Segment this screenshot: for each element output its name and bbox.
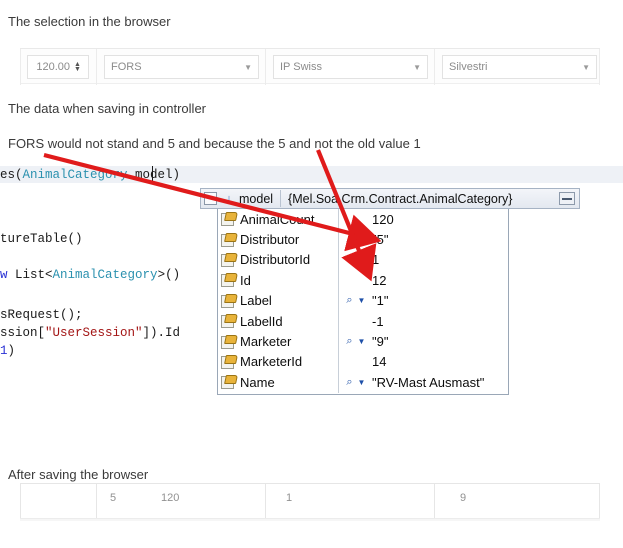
code-token: >() — [158, 268, 181, 282]
table-cell: 9 — [460, 492, 466, 504]
datatip-property-value-cell: ⌕▼1 — [338, 252, 508, 267]
amount-stepper[interactable]: 120.00 ▲ ▼ — [27, 55, 89, 79]
collapse-icon[interactable]: − — [204, 192, 217, 205]
code-line: tureTable() — [0, 232, 83, 246]
datatip-property-value: -1 — [367, 314, 384, 329]
magnifier-icon-placeholder: ⌕ — [343, 253, 356, 266]
datatip-property-value: 120 — [367, 212, 394, 227]
chevron-down-icon-placeholder: ▼ — [356, 357, 367, 366]
magnifier-icon-placeholder: ⌕ — [343, 213, 356, 226]
property-icon — [221, 233, 236, 247]
datatip-property-name-cell: DistributorId — [218, 252, 338, 267]
marketer-select[interactable]: Silvestri ▼ — [442, 55, 597, 79]
datatip-property-value-cell: ⌕▼"RV-Mast Ausmast" — [338, 375, 508, 390]
datatip-property-name-cell: MarketerId — [218, 354, 338, 369]
column-divider — [96, 49, 97, 85]
stepper-down-icon[interactable]: ▼ — [74, 67, 81, 72]
datatip-row[interactable]: DistributorId⌕▼1 — [218, 250, 508, 270]
datatip-property-name: LabelId — [240, 314, 283, 329]
datatip-property-name: Distributor — [240, 232, 299, 247]
code-line: es(AnimalCategory model) — [0, 168, 180, 182]
code-token: List< — [15, 268, 53, 282]
datatip-property-value: 1 — [367, 252, 379, 267]
property-icon — [221, 253, 236, 267]
datatip-row[interactable]: Name⌕▼"RV-Mast Ausmast" — [218, 372, 508, 392]
property-icon — [221, 314, 236, 328]
datatip-property-name: Name — [240, 375, 275, 390]
chevron-down-icon[interactable]: ▼ — [356, 337, 367, 346]
datatip-property-name-cell: LabelId — [218, 314, 338, 329]
code-token: model) — [128, 168, 181, 182]
caption-selection: The selection in the browser — [8, 14, 171, 29]
code-line: ssion["UserSession"]).Id — [0, 326, 180, 340]
column-divider — [96, 484, 97, 518]
datatip-property-value: "1" — [367, 293, 388, 308]
browser-selection-form: 120.00 ▲ ▼ FORS ▼ IP Swiss ▼ Silvestri ▼ — [20, 48, 600, 84]
datatip-property-value: 12 — [367, 273, 386, 288]
datatip-row[interactable]: Distributor⌕▼"5" — [218, 229, 508, 249]
distributor-select-value: FORS — [111, 61, 240, 73]
table-cell: 1 — [286, 492, 292, 504]
datatip-property-value: "9" — [367, 334, 388, 349]
screenshot-root: The selection in the browser 120.00 ▲ ▼ … — [0, 0, 623, 548]
magnifier-icon-placeholder: ⌕ — [343, 355, 356, 368]
datatip-variable-name: model — [239, 192, 280, 206]
property-icon — [221, 294, 236, 308]
label-select-value: IP Swiss — [280, 61, 409, 73]
property-icon — [221, 355, 236, 369]
magnifier-icon[interactable]: ⌕ — [343, 294, 356, 307]
datatip-property-name-cell: Id — [218, 273, 338, 288]
table-bottom-edge — [20, 518, 600, 521]
datatip-property-value: "RV-Mast Ausmast" — [367, 375, 484, 390]
chevron-down-icon[interactable]: ▼ — [409, 63, 421, 72]
label-select[interactable]: IP Swiss ▼ — [273, 55, 428, 79]
datatip-row[interactable]: Id⌕▼12 — [218, 270, 508, 290]
datatip-property-value: "5" — [367, 232, 388, 247]
datatip-property-name-cell: AnimalCount — [218, 212, 338, 227]
chevron-down-icon[interactable]: ▼ — [240, 63, 252, 72]
magnifier-icon[interactable]: ⌕ — [343, 335, 356, 348]
column-divider — [20, 49, 21, 85]
datatip-property-list[interactable]: AnimalCount⌕▼120Distributor⌕▼"5"Distribu… — [217, 209, 509, 395]
datatip-property-value: 14 — [367, 354, 386, 369]
property-icon — [221, 212, 236, 226]
chevron-down-icon[interactable]: ▼ — [356, 296, 367, 305]
code-line: sRequest(); — [0, 308, 83, 322]
datatip-property-name: DistributorId — [240, 252, 310, 267]
code-token: AnimalCategory — [23, 168, 128, 182]
column-divider — [265, 49, 266, 85]
column-divider — [20, 484, 21, 518]
datatip-row[interactable]: AnimalCount⌕▼120 — [218, 209, 508, 229]
column-divider — [599, 484, 600, 518]
chevron-down-icon-placeholder: ▼ — [356, 317, 367, 326]
column-divider — [434, 484, 435, 518]
code-line: w List<AnimalCategory>() — [0, 268, 180, 282]
property-icon — [221, 375, 236, 389]
chevron-down-icon-placeholder: ▼ — [356, 255, 367, 264]
code-token: ssion[ — [0, 326, 45, 340]
datatip-property-name: Marketer — [240, 334, 291, 349]
code-token: 1 — [0, 344, 8, 358]
datatip-row[interactable]: MarketerId⌕▼14 — [218, 352, 508, 372]
datatip-property-value-cell: ⌕▼"1" — [338, 293, 508, 308]
table-cell: 5 — [110, 492, 116, 504]
code-token: es( — [0, 168, 23, 182]
caption-controller: The data when saving in controller — [8, 101, 206, 116]
after-saving-table: 120519 — [20, 483, 600, 521]
code-token: ]).Id — [143, 326, 181, 340]
chevron-down-icon-placeholder: ▼ — [356, 215, 367, 224]
pin-icon[interactable]: ↓ — [221, 193, 237, 205]
datatip-type-value: {Mel.Soa.Crm.Contract.AnimalCategory} — [281, 192, 559, 206]
caption-after: After saving the browser — [8, 467, 148, 482]
marketer-select-value: Silvestri — [449, 61, 578, 73]
code-token: tureTable() — [0, 232, 83, 246]
code-token: w — [0, 268, 15, 282]
column-divider — [434, 49, 435, 85]
datatip-property-value-cell: ⌕▼12 — [338, 273, 508, 288]
datatip-header[interactable]: − ↓ model {Mel.Soa.Crm.Contract.AnimalCa… — [200, 188, 580, 209]
datatip-property-name-cell: Name — [218, 375, 338, 390]
datatip-property-name-cell: Label — [218, 293, 338, 308]
datatip-property-value-cell: ⌕▼120 — [338, 212, 508, 227]
code-line: 1) — [0, 344, 15, 358]
magnifier-icon[interactable]: ⌕ — [343, 233, 356, 246]
datatip-property-name: Label — [240, 293, 272, 308]
distributor-select[interactable]: FORS ▼ — [104, 55, 259, 79]
amount-value: 120.00 — [36, 61, 73, 73]
code-token: AnimalCategory — [53, 268, 158, 282]
datatip-property-name: Id — [240, 273, 251, 288]
datatip-property-name: MarketerId — [240, 354, 302, 369]
datatip-property-name: AnimalCount — [240, 212, 314, 227]
datatip-row[interactable]: Label⌕▼"1" — [218, 291, 508, 311]
code-token: sRequest(); — [0, 308, 83, 322]
datatip-property-value-cell: ⌕▼14 — [338, 354, 508, 369]
column-divider — [265, 484, 266, 518]
column-divider — [599, 49, 600, 85]
code-token: "UserSession" — [45, 326, 143, 340]
table-cell: 120 — [161, 492, 179, 504]
caption-note: FORS would not stand and 5 and because t… — [8, 136, 421, 151]
property-icon — [221, 273, 236, 287]
chevron-down-icon-placeholder: ▼ — [356, 276, 367, 285]
datatip-property-value-cell: ⌕▼-1 — [338, 314, 508, 329]
magnifier-icon-placeholder: ⌕ — [343, 274, 356, 287]
code-token: ) — [8, 344, 16, 358]
datatip-property-value-cell: ⌕▼"9" — [338, 334, 508, 349]
datatip-property-value-cell: ⌕▼"5" — [338, 232, 508, 247]
chevron-down-icon[interactable]: ▼ — [356, 378, 367, 387]
stepper-arrows[interactable]: ▲ ▼ — [73, 62, 82, 72]
property-icon — [221, 335, 236, 349]
datatip-row[interactable]: LabelId⌕▼-1 — [218, 311, 508, 331]
datatip-row[interactable]: Marketer⌕▼"9" — [218, 331, 508, 351]
datatip-property-name-cell: Marketer — [218, 334, 338, 349]
chevron-down-icon-placeholder: ▼ — [356, 235, 367, 244]
datatip-property-name-cell: Distributor — [218, 232, 338, 247]
magnifier-icon-placeholder: ⌕ — [343, 315, 356, 328]
magnifier-icon[interactable]: ⌕ — [343, 376, 356, 389]
unpin-icon[interactable] — [559, 192, 575, 205]
chevron-down-icon[interactable]: ▼ — [578, 63, 590, 72]
